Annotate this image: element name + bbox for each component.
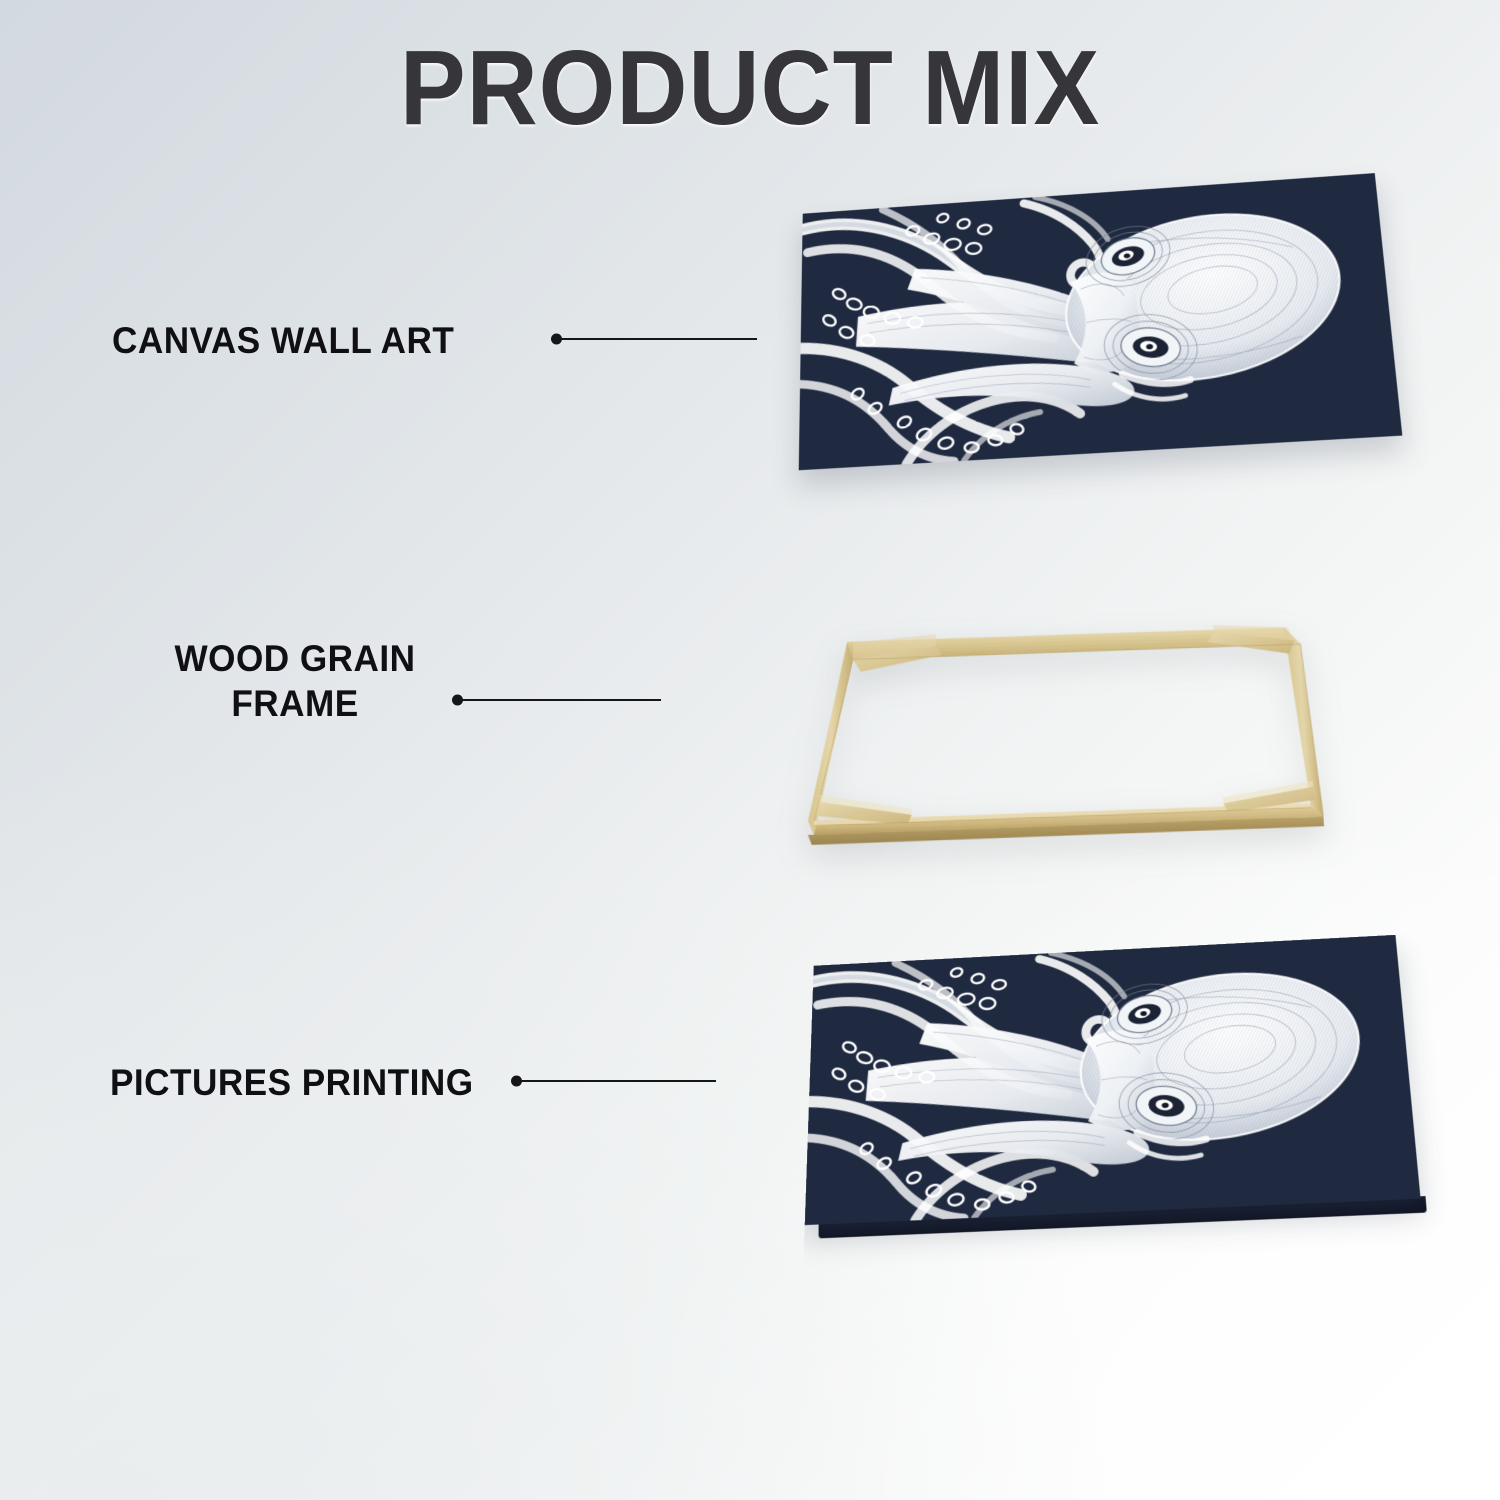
leader-line-canvas-wall-art bbox=[551, 332, 757, 346]
callout-label-pictures-printing: PICTURES PRINTING bbox=[110, 1060, 474, 1105]
product-octopus-printed-panel[interactable] bbox=[805, 940, 1405, 1215]
octopus-artwork bbox=[799, 173, 1403, 470]
product-octopus-canvas-wall-art[interactable] bbox=[795, 185, 1385, 455]
leader-line-wood-grain-frame bbox=[452, 693, 661, 707]
product-wood-grain-frame[interactable] bbox=[790, 605, 1335, 860]
printed-panel-surface bbox=[805, 935, 1421, 1225]
leader-stroke bbox=[559, 338, 757, 340]
leader-line-pictures-printing bbox=[511, 1074, 716, 1088]
label-line-1: WOOD GRAIN bbox=[174, 638, 415, 679]
octopus-artwork bbox=[805, 935, 1421, 1225]
callout-label-canvas-wall-art: CANVAS WALL ART bbox=[112, 318, 454, 363]
callout-label-wood-grain-frame: WOOD GRAINFRAME bbox=[167, 636, 424, 726]
page-title: PRODUCT MIX bbox=[53, 28, 1448, 149]
wooden-frame-artwork bbox=[787, 606, 1343, 865]
canvas-print-surface bbox=[799, 173, 1403, 470]
leader-stroke bbox=[460, 699, 661, 701]
label-line-2: FRAME bbox=[231, 683, 358, 724]
leader-stroke bbox=[519, 1080, 716, 1082]
